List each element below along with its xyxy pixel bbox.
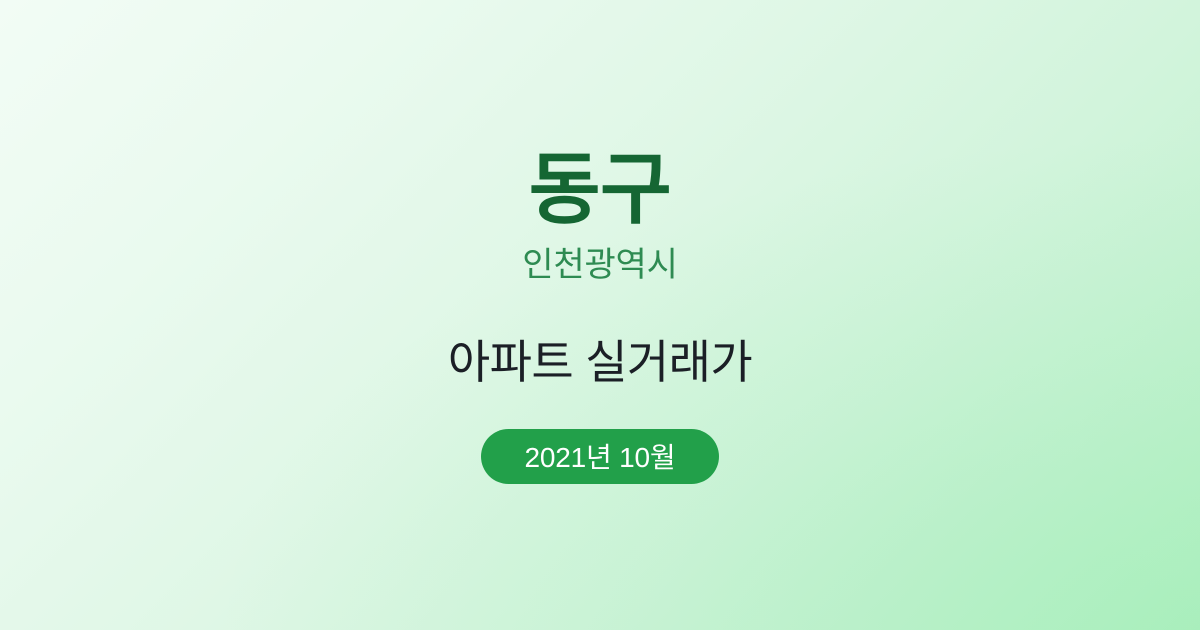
og-preview-card: 동구 인천광역시 아파트 실거래가 2021년 10월 bbox=[0, 0, 1200, 630]
region-name: 동구 bbox=[529, 148, 672, 231]
dataset-heading: 아파트 실거래가 bbox=[448, 336, 752, 388]
period-badge: 2021년 10월 bbox=[481, 429, 719, 484]
region-parent-name: 인천광역시 bbox=[522, 246, 677, 285]
card-content: 동구 인천광역시 아파트 실거래가 2021년 10월 bbox=[0, 0, 1200, 484]
